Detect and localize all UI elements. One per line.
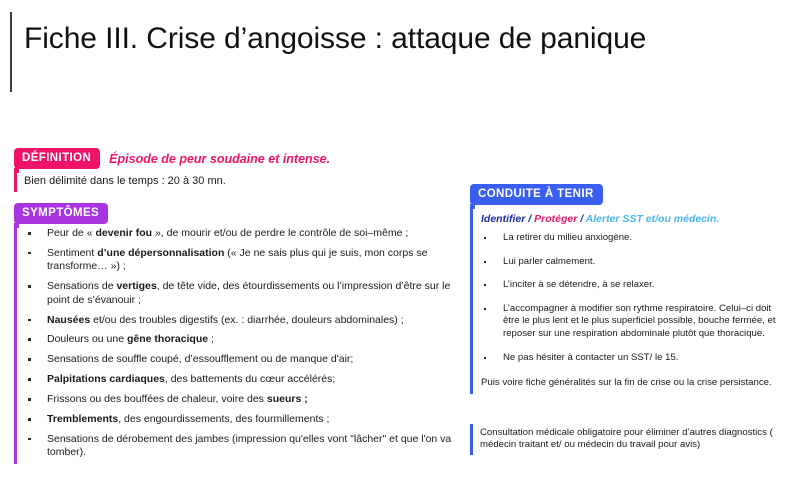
subtitle-separator-2: / bbox=[577, 213, 585, 225]
symptome-item: Frissons ou des bouffées de chaleur, voi… bbox=[17, 393, 454, 406]
subtitle-identifier: Identifier bbox=[481, 213, 525, 225]
symptomes-list: Peur de « devenir fou », de mourir et/ou… bbox=[17, 224, 454, 464]
symptomes-header: SYMPTÔMES bbox=[14, 203, 454, 224]
conduite-note: Puis voire fiche généralités sur la fin … bbox=[473, 377, 780, 394]
left-column: DÉFINITION Épisode de peur soudaine et i… bbox=[14, 148, 454, 464]
conduite-item: Ne pas hésiter à contacter un SST/ le 15… bbox=[473, 352, 780, 365]
conduite-badge: CONDUITE À TENIR bbox=[470, 184, 603, 205]
symptome-item: Nausées et/ou des troubles digestifs (ex… bbox=[17, 314, 454, 327]
definition-badge: DÉFINITION bbox=[14, 148, 100, 169]
subtitle-proteger: Protéger bbox=[534, 213, 577, 225]
symptomes-badge: SYMPTÔMES bbox=[14, 203, 108, 224]
symptomes-body-row: Peur de « devenir fou », de mourir et/ou… bbox=[14, 224, 454, 464]
subtitle-alerter: Alerter SST et/ou médecin. bbox=[586, 213, 720, 225]
conduite-item: Lui parler calmement. bbox=[473, 256, 780, 269]
conduite-item: L’inciter à se détendre, à se relaxer. bbox=[473, 279, 780, 292]
conduite-item: L’accompagner à modifier son rythme resp… bbox=[473, 303, 780, 341]
conduite-final-row: Consultation médicale obligatoire pour é… bbox=[470, 424, 780, 455]
definition-header: DÉFINITION Épisode de peur soudaine et i… bbox=[14, 148, 454, 169]
symptome-item: Sentiment d’une dépersonnalisation (« Je… bbox=[17, 247, 454, 274]
symptome-item: Palpitations cardiaques, des battements … bbox=[17, 373, 454, 386]
definition-body-row: Bien délimité dans le temps : 20 à 30 mn… bbox=[14, 169, 454, 192]
page-title: Fiche III. Crise d’angoisse : attaque de… bbox=[12, 12, 646, 56]
conduite-final-note: Consultation médicale obligatoire pour é… bbox=[473, 424, 780, 455]
symptome-item: Sensations de vertiges, de tête vide, de… bbox=[17, 280, 454, 307]
conduite-subtitle: Identifier / Protéger / Alerter SST et/o… bbox=[473, 205, 780, 228]
slide-title-block: Fiche III. Crise d’angoisse : attaque de… bbox=[10, 12, 646, 92]
symptome-item: Tremblements, des engourdissements, des … bbox=[17, 413, 454, 426]
symptome-item: Douleurs ou une gêne thoracique ; bbox=[17, 333, 454, 346]
conduite-header: CONDUITE À TENIR bbox=[470, 184, 780, 205]
right-column: CONDUITE À TENIR Identifier / Protéger /… bbox=[470, 184, 780, 455]
definition-body: Bien délimité dans le temps : 20 à 30 mn… bbox=[17, 169, 226, 192]
conduite-list: La retirer du milieu anxiogène.Lui parle… bbox=[473, 228, 780, 377]
conduite-item: La retirer du milieu anxiogène. bbox=[473, 232, 780, 245]
symptome-item: Sensations de souffle coupé, d’essouffle… bbox=[17, 353, 454, 366]
symptome-item: Peur de « devenir fou », de mourir et/ou… bbox=[17, 227, 454, 240]
subtitle-separator-1: / bbox=[525, 213, 534, 225]
symptome-item: Sensations de dérobement des jambes (imp… bbox=[17, 433, 454, 460]
slide-root: { "slide": { "title": "Fiche III. Crise … bbox=[0, 0, 790, 499]
definition-tagline: Épisode de peur soudaine et intense. bbox=[109, 152, 330, 166]
conduite-body-row: Identifier / Protéger / Alerter SST et/o… bbox=[470, 205, 780, 394]
